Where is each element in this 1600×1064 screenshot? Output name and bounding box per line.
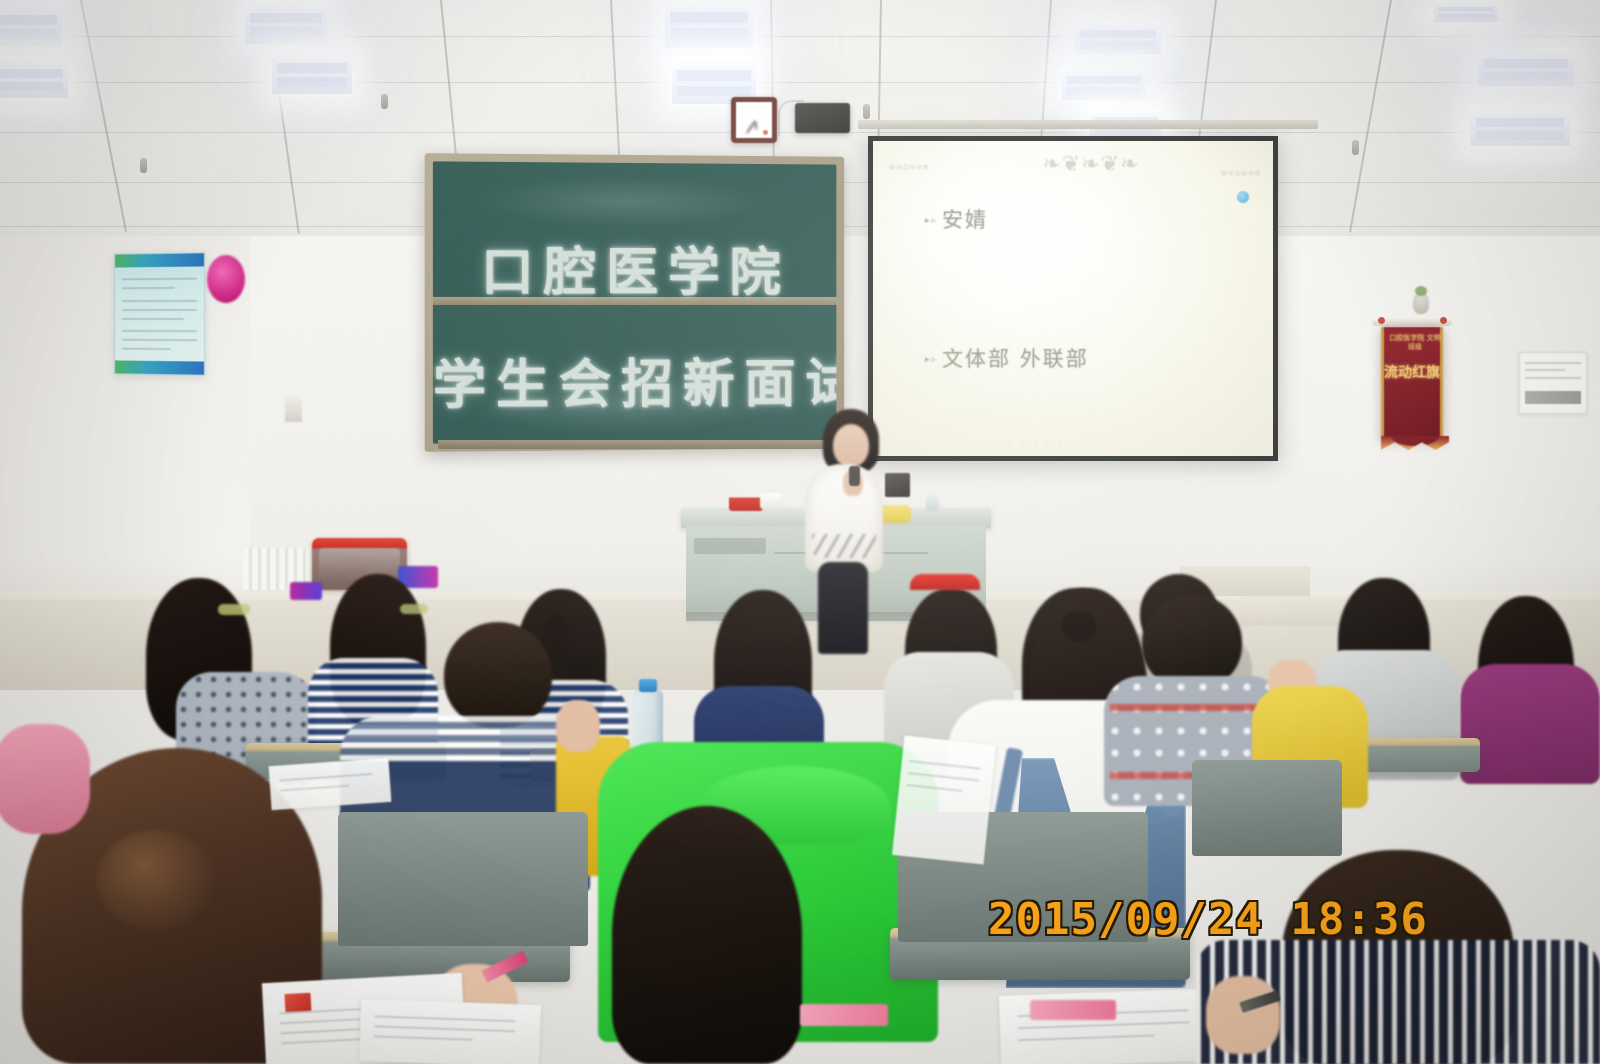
ceiling-light-fixture (1470, 106, 1570, 146)
slide-bullet-icon: ▸▹ (925, 216, 938, 226)
smoke-detector-icon (1352, 140, 1359, 155)
audience-ponytail (1062, 612, 1096, 642)
blackboard-text-line1: 口腔医学院 (433, 229, 837, 305)
wall-clock (731, 97, 777, 143)
dark-equipment-on-podium (885, 473, 910, 497)
presenter-top-pattern (812, 534, 876, 558)
wall-small-notice (1519, 352, 1587, 414)
award-pennant: 口腔医学院 文明班级 流动红旗 (1381, 327, 1443, 439)
yellow-folder-on-podium (881, 505, 911, 523)
smoke-detector-icon (381, 94, 388, 109)
document-paper (892, 736, 996, 865)
poster-header-bar (115, 253, 204, 267)
audience-hand (1206, 976, 1280, 1054)
pink-slip (800, 1004, 888, 1026)
seat-back (338, 812, 588, 946)
audience-hair-bun (96, 830, 216, 930)
presenter-microphone-icon (849, 466, 860, 486)
pennant-main-text: 流动红旗 (1384, 363, 1440, 383)
ceiling-light-fixture (245, 0, 327, 44)
slide-department-text: 文体部 外联部 (942, 347, 1089, 371)
banner-hook-icon (1440, 317, 1447, 324)
slide-bullet-icon: ▸▹ (925, 355, 938, 365)
projection-screen-surface: ❧ ❦ ❧ ❦ ❧ ✽✾✿❁✾✽ ✽✾✿❁✾✽ ▸▹安婧 ▸▹文体部 外联部 ◦… (873, 141, 1273, 456)
red-box-on-podium (729, 489, 763, 511)
projection-screen[interactable]: ❧ ❦ ❧ ❦ ❧ ✽✾✿❁✾✽ ✽✾✿❁✾✽ ▸▹安婧 ▸▹文体部 外联部 ◦… (868, 136, 1278, 461)
slide-name-line: ▸▹安婧 (925, 204, 988, 234)
slide-name-text: 安婧 (942, 208, 988, 232)
seat-back (1192, 760, 1342, 856)
camera-timestamp: 2015/09/24 18:36 (988, 894, 1428, 945)
audience-pink-sleeve (0, 724, 90, 834)
wall-notice-poster (114, 252, 205, 375)
white-item-on-podium (760, 493, 782, 509)
ceiling-light-fixture (0, 2, 62, 46)
presenter-head (833, 424, 869, 467)
ceiling-light-fixture (665, 0, 753, 48)
presenter-trousers (818, 562, 868, 654)
smoke-detector-icon (863, 104, 870, 119)
chalk-tray (438, 440, 838, 449)
wall-fixture (285, 396, 302, 422)
pennant-header-text: 口腔医学院 文明班级 (1388, 334, 1442, 352)
slide-ornament-left-icon: ✽✾✿❁✾✽ (889, 163, 929, 172)
ceiling-light-fixture (272, 50, 352, 94)
document-paper (269, 758, 392, 810)
blackboard-text-line2: 学生会招新面试 (433, 341, 837, 418)
audience-hand (556, 700, 600, 752)
banner-top-decoration (1413, 292, 1429, 314)
blackboard[interactable]: 口腔医学院 学生会招新面试 (425, 153, 844, 452)
eyeglasses-icon (400, 604, 428, 614)
clock-minute-hand (745, 120, 755, 134)
smoke-detector-icon (140, 158, 147, 173)
clock-brand-dot-icon (763, 130, 768, 135)
decorative-streamers (290, 582, 322, 600)
notice-photo-strip (1525, 391, 1580, 404)
slide-department-line: ▸▹文体部 外联部 (925, 343, 1089, 373)
slide-ornament-right-icon: ✽✾✿❁✾✽ (1221, 169, 1261, 178)
eyeglasses-icon (218, 604, 250, 615)
slide-blue-dot-icon (1237, 191, 1249, 203)
blackboard-surface: 口腔医学院 学生会招新面试 (433, 161, 837, 443)
poster-footer-bar (115, 360, 204, 374)
slide-ornament-icon: ❧ ❦ ❧ ❦ ❧ (977, 154, 1201, 201)
ceiling-light-fixture (1062, 66, 1146, 100)
document-paper (359, 999, 541, 1064)
ceiling-light-fixture (0, 56, 68, 98)
red-hair-bow (910, 574, 980, 590)
ceiling-light-fixture (1478, 48, 1574, 86)
wall-speaker (795, 103, 850, 133)
decorative-pompom (207, 255, 245, 303)
ceiling-light-fixture (1434, 0, 1498, 22)
slide-footer-ornament-icon: ◦ ◦ ◦ ◦ ◦ ◦ (993, 437, 1065, 453)
banner-hook-icon (1378, 317, 1385, 324)
classroom-photograph: 口腔医学院 学生会招新面试 ❧ ❦ ❧ ❦ ❧ ✽✾✿❁✾✽ ✽✾✿❁✾✽ ▸▹… (0, 0, 1600, 1064)
audience-head (444, 622, 552, 728)
ceiling-light-fixture (1075, 20, 1161, 54)
pink-slip (1030, 1000, 1116, 1020)
small-bottle-on-podium (926, 494, 939, 511)
bottle-cap (639, 679, 657, 692)
audience-head (612, 806, 802, 1064)
screen-mounting-rail (858, 120, 1318, 129)
